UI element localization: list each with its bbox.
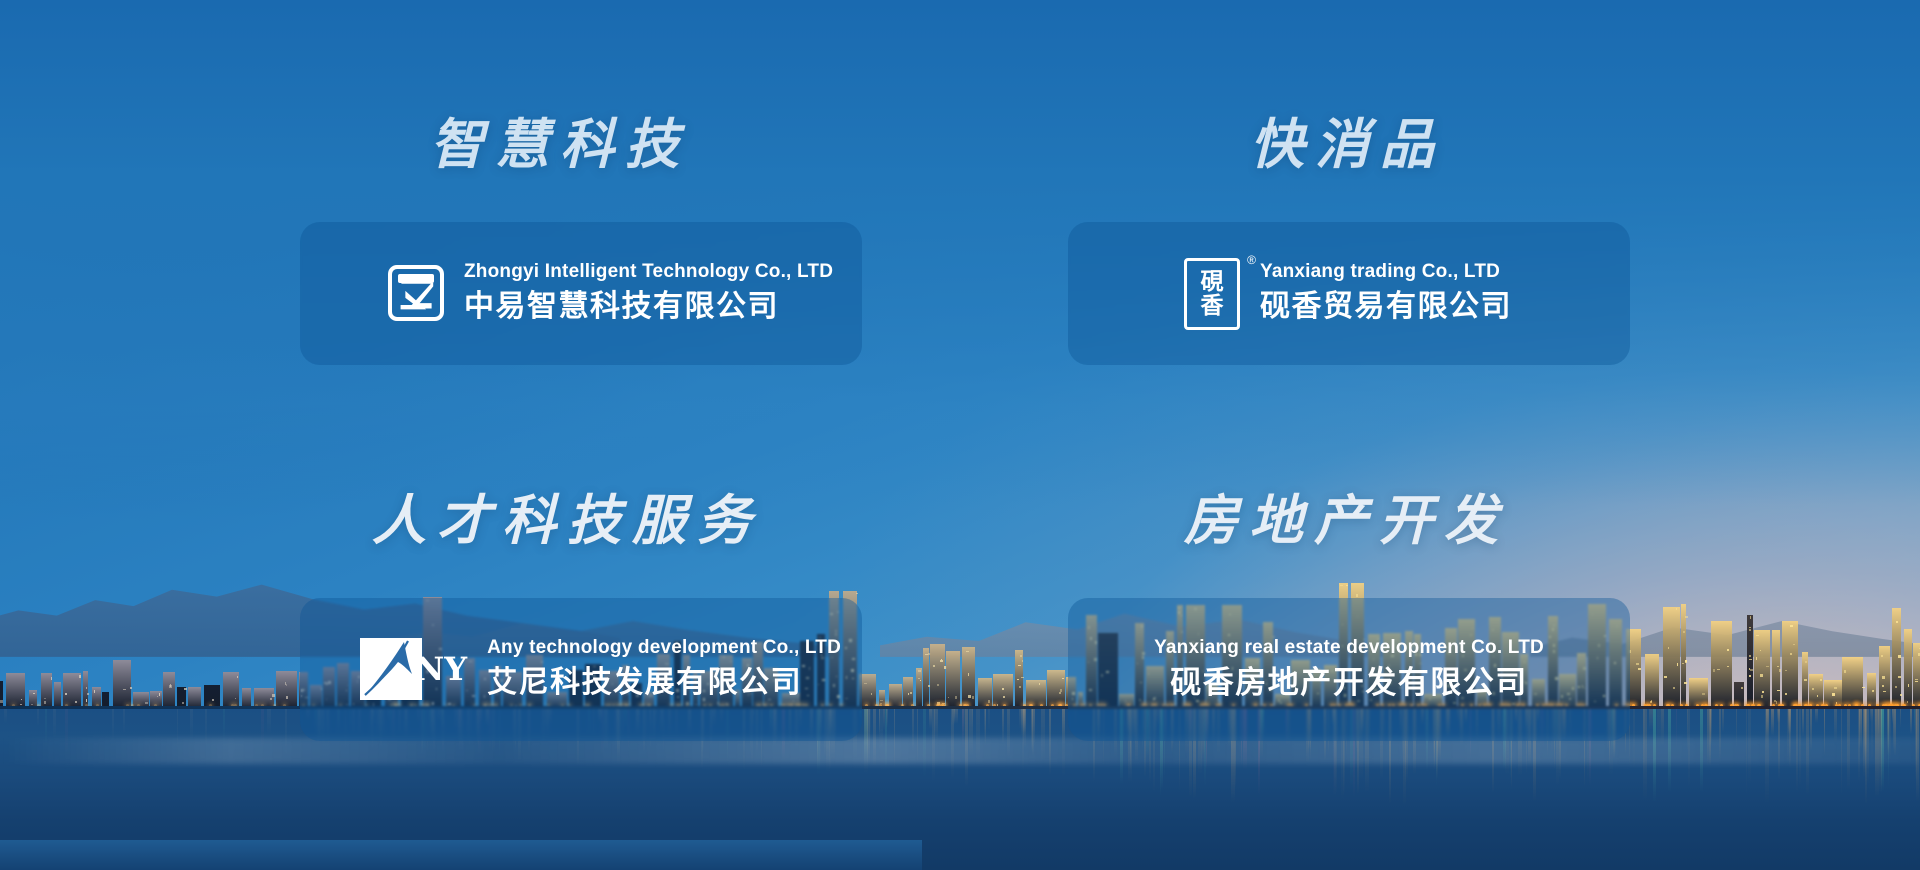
company-card-yanxiang-trading[interactable]: 硯 香 ® Yanxiang trading Co., LTD 砚香贸易有限公司 [1068, 222, 1630, 365]
section-heading-talent-services: 人才科技服务 [372, 494, 762, 548]
yanxiang-seal-logo: 硯 香 ® [1184, 258, 1240, 330]
company-card-yanxiang-real-estate[interactable]: Yanxiang real estate development Co. LTD… [1068, 598, 1630, 741]
company-name-cn-any: 艾尼科技发展有限公司 [487, 663, 841, 704]
company-name-cn-yanxiang-trading: 砚香贸易有限公司 [1260, 287, 1512, 328]
content-grid: 智慧科技 Zhongyi Intelligent Technology Co. [0, 0, 1920, 870]
company-name-cn-zhongyi: 中易智慧科技有限公司 [464, 287, 833, 328]
company-name-en-yanxiang-real-estate: Yanxiang real estate development Co. LTD [1154, 635, 1544, 661]
company-card-any[interactable]: NY Any technology development Co., LTD 艾… [300, 598, 862, 741]
registered-trademark-icon: ® [1247, 254, 1256, 266]
section-heading-smart-technology: 智慧科技 [430, 118, 690, 172]
zhongyi-logo [388, 265, 444, 321]
company-name-cn-yanxiang-real-estate: 砚香房地产开发有限公司 [1170, 662, 1528, 704]
section-heading-real-estate: 房地产开发 [1184, 494, 1509, 548]
any-logo-text: NY [415, 653, 467, 685]
seal-char-top: 硯 [1201, 270, 1224, 293]
seal-char-bottom: 香 [1201, 294, 1224, 317]
company-card-zhongyi[interactable]: Zhongyi Intelligent Technology Co., LTD … [300, 222, 862, 365]
company-name-en-any: Any technology development Co., LTD [487, 635, 841, 661]
company-name-en-yanxiang-trading: Yanxiang trading Co., LTD [1260, 259, 1512, 285]
section-heading-fmcg: 快消品 [1250, 118, 1445, 172]
company-name-en-zhongyi: Zhongyi Intelligent Technology Co., LTD [464, 259, 833, 285]
any-logo: NY [360, 638, 467, 700]
